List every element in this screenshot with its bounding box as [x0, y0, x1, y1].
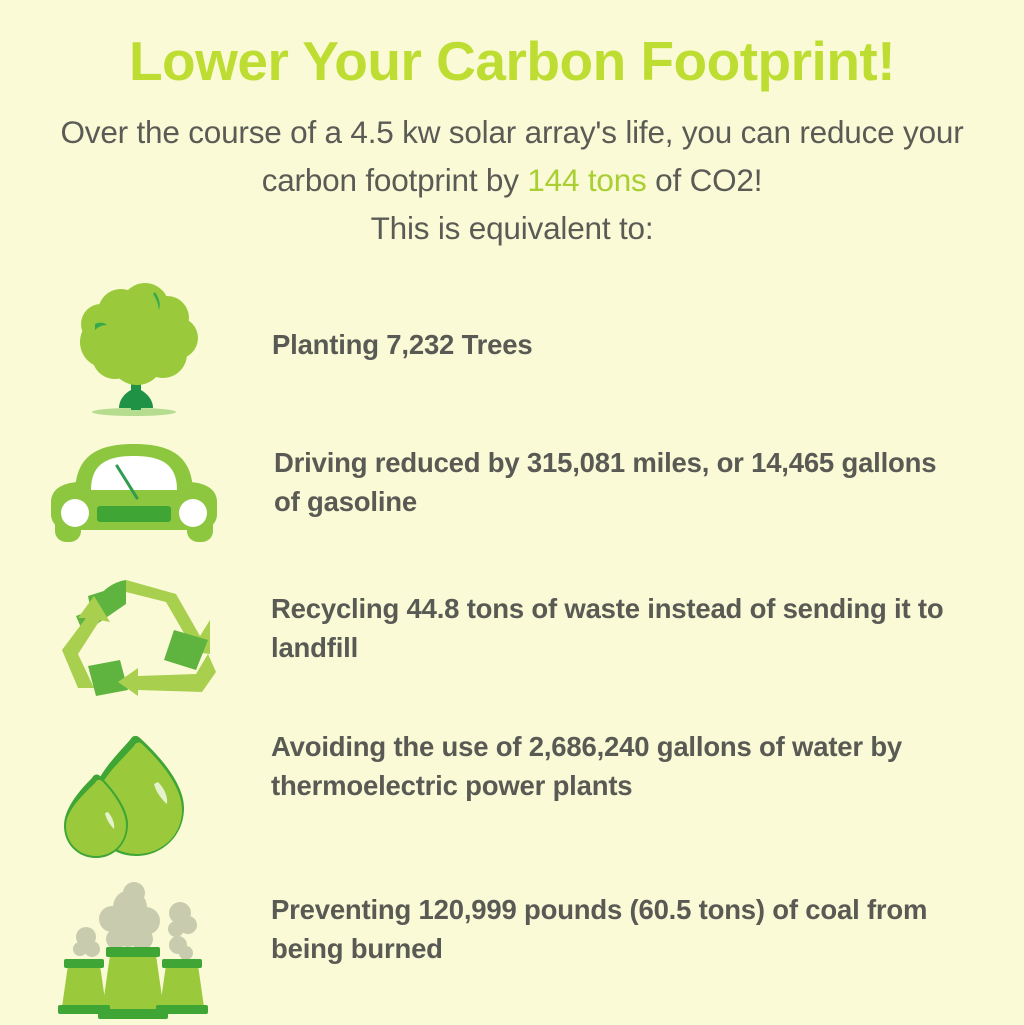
list-item-label: Preventing 120,999 pounds (60.5 tons) of… — [268, 873, 1024, 968]
subtitle-highlight-tons: 144 tons — [527, 162, 646, 198]
list-item: Recycling 44.8 tons of waste instead of … — [0, 568, 1024, 718]
subtitle: Over the course of a 4.5 kw solar array'… — [14, 109, 1010, 253]
car-icon — [41, 432, 227, 552]
equivalence-list: Planting 7,232 Trees — [0, 278, 1024, 1023]
tree-icon-cell — [0, 278, 268, 426]
list-item-label: Driving reduced by 315,081 miles, or 14,… — [268, 428, 1024, 521]
list-item-label: Planting 7,232 Trees — [268, 278, 592, 365]
list-item-label: Recycling 44.8 tons of waste instead of … — [268, 568, 1024, 667]
car-icon-cell — [0, 428, 268, 552]
tree-icon — [59, 280, 209, 426]
power-plant-icon-cell — [0, 873, 268, 1025]
subtitle-text-part2: of CO2! — [647, 162, 763, 198]
infographic-poster: Lower Your Carbon Footprint! Over the co… — [0, 0, 1024, 1024]
subtitle-line3: This is equivalent to: — [371, 210, 654, 246]
power-plant-icon — [46, 879, 222, 1025]
list-item-label: Avoiding the use of 2,686,240 gallons of… — [268, 718, 1024, 805]
recycle-icon-cell — [0, 568, 268, 702]
list-item: Preventing 120,999 pounds (60.5 tons) of… — [0, 873, 1024, 1023]
list-item: Planting 7,232 Trees — [0, 278, 1024, 428]
list-item: Driving reduced by 315,081 miles, or 14,… — [0, 428, 1024, 568]
water-drops-icon-cell — [0, 718, 268, 876]
recycle-icon — [48, 574, 220, 702]
page-title: Lower Your Carbon Footprint! — [0, 0, 1024, 91]
water-drops-icon — [54, 726, 214, 876]
subtitle-text-part1: Over the course of a 4.5 kw solar array'… — [60, 114, 963, 198]
list-item: Avoiding the use of 2,686,240 gallons of… — [0, 718, 1024, 873]
